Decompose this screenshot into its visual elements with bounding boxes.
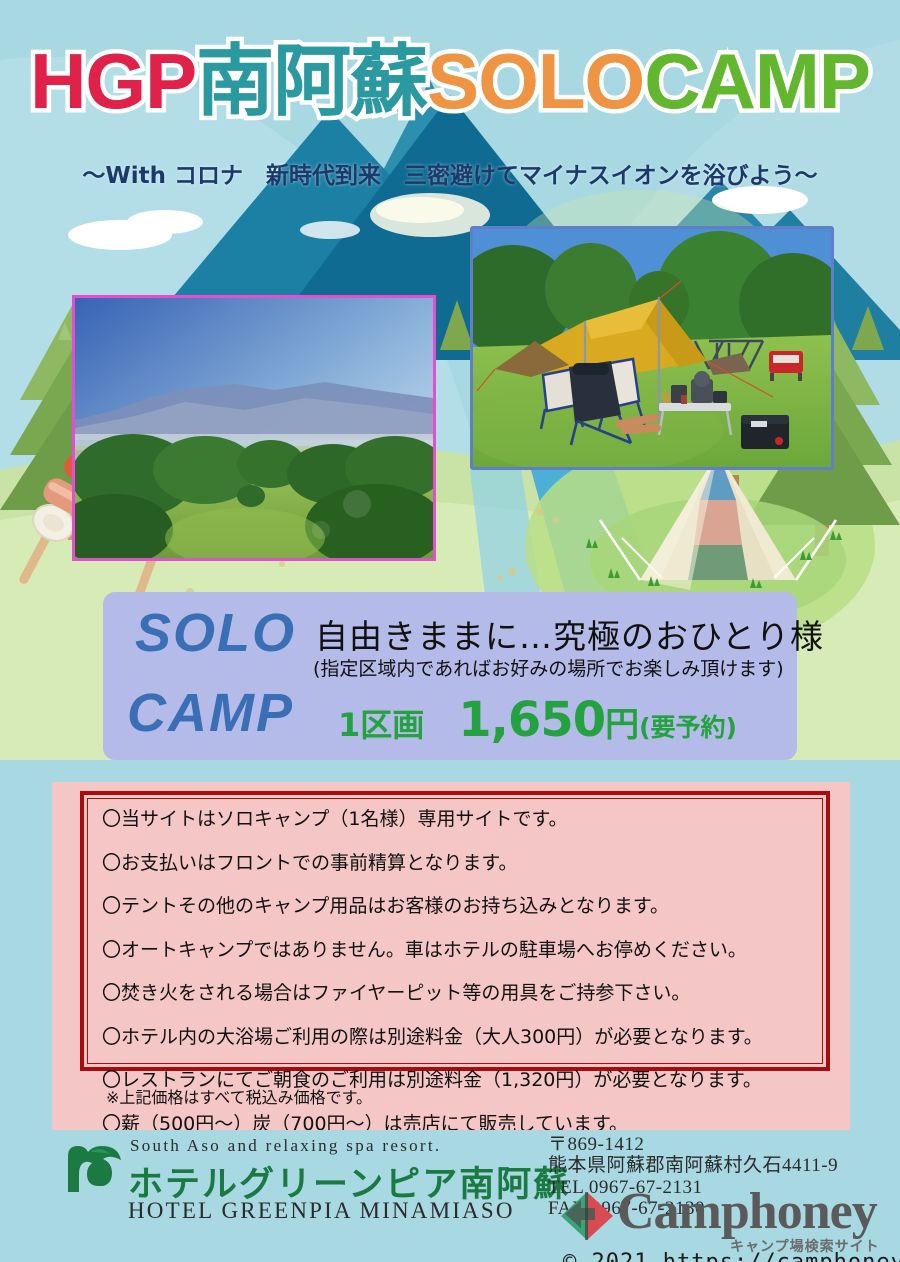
- flyer-page: HGP南阿蘇SOLOCAMP HGP南阿蘇SOLOCAMP 〜With コロナ …: [0, 0, 900, 1262]
- list-item: 〇当サイトはソロキャンプ（1名様）専用サイトです。: [102, 804, 822, 831]
- list-item: 〇ホテル内の大浴場ご利用の際は別途料金（大人300円）が必要となります。: [102, 1022, 822, 1049]
- header: HGP南阿蘇SOLOCAMP HGP南阿蘇SOLOCAMP 〜With コロナ …: [0, 0, 900, 200]
- page-title: HGP南阿蘇SOLOCAMP: [0, 42, 900, 121]
- notes-panel: 〇当サイトはソロキャンプ（1名様）専用サイトです。 〇お支払いはフロントでの事前…: [52, 782, 850, 1130]
- page-subtitle: 〜With コロナ 新時代到来 三密避けてマイナスイオンを浴びよう〜: [0, 156, 900, 190]
- price-tagline-sub: (指定区域内であればお好みの場所でお楽しみ頂けます): [313, 654, 784, 681]
- camphoney-logo-icon: [555, 1188, 619, 1244]
- title-part-hgp: HGP: [30, 37, 196, 125]
- title-part-solo: SOLO: [427, 37, 644, 125]
- price-panel: SOLO CAMP 自由きままに…究極のおひとり様 (指定区域内であればお好みの…: [103, 592, 797, 760]
- photo-landscape: [72, 295, 436, 561]
- price-solo-word: SOLO: [135, 602, 296, 664]
- camphoney-watermark: Camphoney キャンプ場検索サイト © 2021 https://camp…: [555, 1188, 900, 1262]
- price-row: 1区画1,650円(要予約): [338, 692, 737, 748]
- list-item: 〇テントその他のキャンプ用品はお客様のお持ち込みとなります。: [102, 891, 822, 918]
- price-reservation-note: (要予約): [639, 713, 737, 742]
- hotel-name-en: HOTEL GREENPIA MINAMIASO: [128, 1198, 515, 1224]
- price-amount: 1,650: [458, 692, 605, 748]
- title-part-camp: CAMP: [644, 37, 870, 125]
- tax-note: ※上記価格はすべて税込み価格です。: [106, 1084, 372, 1108]
- price-tagline: 自由きままに…究極のおひとり様: [315, 610, 824, 658]
- camphoney-copyright: © 2021 https://camphoney.com: [563, 1250, 900, 1262]
- hotel-leaf-logo-icon: [62, 1140, 124, 1198]
- photo-landscape-image: [75, 298, 433, 558]
- camphoney-brand: Camphoney: [617, 1182, 877, 1241]
- price-camp-word: CAMP: [127, 682, 294, 744]
- title-part-minamiaso: 南阿蘇: [196, 37, 427, 127]
- photo-campsite-image: [473, 229, 831, 467]
- list-item: 〇焚き火をされる場合はファイヤーピット等の用具をご持参下さい。: [102, 978, 822, 1005]
- list-item: 〇お支払いはフロントでの事前精算となります。: [102, 848, 822, 875]
- contact-postal: 〒869-1412: [548, 1134, 838, 1155]
- contact-address: 熊本県阿蘇郡南阿蘇村久石4411-9: [548, 1155, 838, 1176]
- list-item: 〇オートキャンプではありません。車はホテルの駐車場へお停めください。: [102, 935, 822, 962]
- price-currency: 円: [605, 705, 639, 745]
- footer: South Aso and relaxing spa resort. ホテルグリ…: [0, 1130, 900, 1262]
- price-unit: 1区画: [338, 706, 424, 744]
- photo-campsite: [470, 226, 834, 470]
- hotel-tagline: South Aso and relaxing spa resort.: [130, 1136, 441, 1156]
